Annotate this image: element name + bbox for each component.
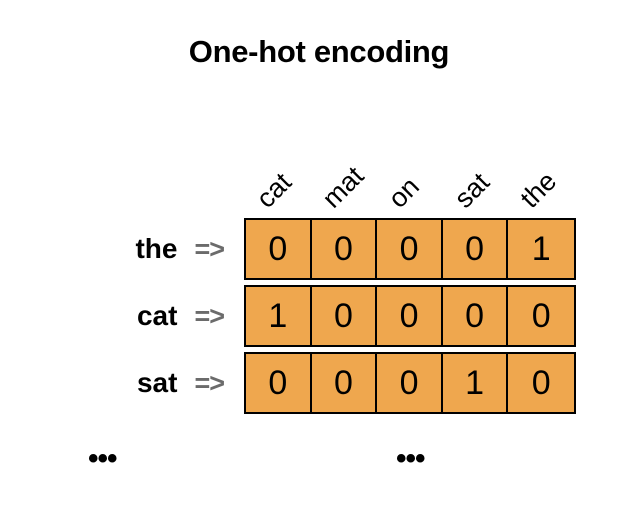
matrix-cell: 0 xyxy=(377,287,443,345)
column-header-0: cat xyxy=(244,123,310,215)
row-label-cat: cat => xyxy=(40,285,236,347)
column-header-label: sat xyxy=(450,168,495,213)
one-hot-matrix: 0 0 0 0 1 1 0 0 0 0 0 0 0 1 0 xyxy=(244,218,576,414)
column-header-label: the xyxy=(516,167,562,213)
matrix-cell: 0 xyxy=(312,220,378,278)
row-word-label: sat xyxy=(137,367,177,399)
matrix-row: 0 0 0 0 1 xyxy=(244,218,576,280)
row-word-label: cat xyxy=(137,300,177,332)
matrix-cell: 1 xyxy=(508,220,574,278)
column-header-label: mat xyxy=(318,162,369,213)
column-header-2: on xyxy=(376,123,442,215)
row-word-label: the xyxy=(135,233,177,265)
ellipsis-matrix-rows: ••• xyxy=(396,444,425,474)
matrix-row: 1 0 0 0 0 xyxy=(244,285,576,347)
matrix-cell: 0 xyxy=(443,220,509,278)
ellipsis-row-labels: ••• xyxy=(88,444,117,474)
matrix-cell: 1 xyxy=(246,287,312,345)
matrix-cell: 0 xyxy=(377,354,443,412)
row-label-the: the => xyxy=(40,218,236,280)
maps-to-arrow-icon: => xyxy=(194,234,224,265)
column-header-4: the xyxy=(508,123,574,215)
column-header-label: on xyxy=(384,173,424,213)
column-header-row: cat mat on sat the xyxy=(244,123,576,215)
row-label-sat: sat => xyxy=(40,352,236,414)
matrix-cell: 0 xyxy=(246,354,312,412)
matrix-cell: 0 xyxy=(508,287,574,345)
maps-to-arrow-icon: => xyxy=(194,301,224,332)
column-header-3: sat xyxy=(442,123,508,215)
matrix-cell: 0 xyxy=(377,220,443,278)
matrix-cell: 0 xyxy=(246,220,312,278)
maps-to-arrow-icon: => xyxy=(194,368,224,399)
matrix-cell: 1 xyxy=(443,354,509,412)
matrix-cell: 0 xyxy=(312,354,378,412)
matrix-cell: 0 xyxy=(443,287,509,345)
matrix-cell: 0 xyxy=(508,354,574,412)
column-header-1: mat xyxy=(310,123,376,215)
matrix-row: 0 0 0 1 0 xyxy=(244,352,576,414)
page-title: One-hot encoding xyxy=(0,34,638,70)
column-header-label: cat xyxy=(252,168,297,213)
one-hot-encoding-figure: One-hot encoding cat mat on sat the the … xyxy=(0,0,638,522)
matrix-cell: 0 xyxy=(312,287,378,345)
